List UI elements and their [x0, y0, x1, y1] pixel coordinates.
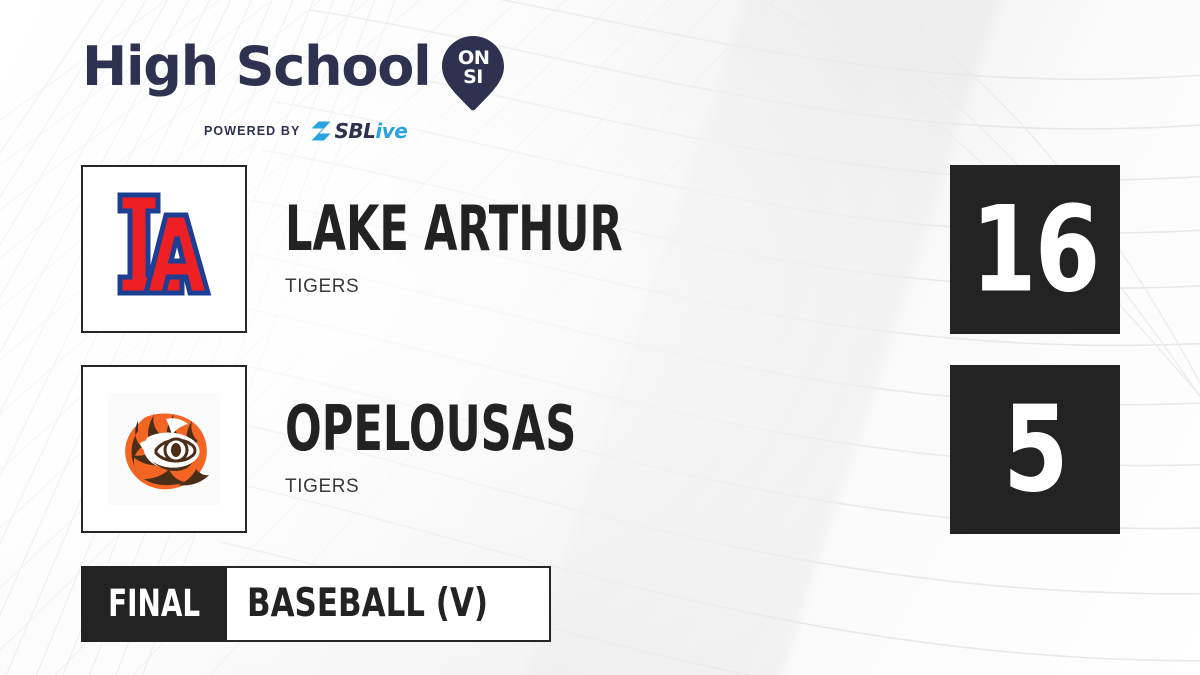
opelousas-tiger-eye-logo — [108, 393, 220, 505]
sblive-suffix: ive — [375, 119, 407, 143]
brand-header: High School ON SI POWERED BY SBLive — [82, 38, 642, 138]
sport-label-box: BASEBALL (V) — [227, 566, 551, 642]
team-row: OPELOUSAS TIGERS 5 — [0, 365, 1200, 535]
brand-wordmark: High School — [82, 38, 430, 96]
team-mascot: TIGERS — [285, 276, 707, 298]
team-row: LAKE ARTHUR TIGERS 16 — [0, 165, 1200, 335]
team-score: 16 — [971, 190, 1099, 309]
game-status-bar: FINAL BASEBALL (V) — [81, 566, 551, 642]
team-text-block: LAKE ARTHUR TIGERS — [285, 165, 707, 333]
team-name: OPELOUSAS — [285, 396, 576, 461]
brand-row: High School ON SI — [82, 38, 642, 112]
status-badge: FINAL — [81, 566, 227, 642]
status-badge-label: FINAL — [108, 584, 200, 624]
sblive-logo: SBLive — [309, 119, 407, 143]
team-text-block: OPELOUSAS TIGERS — [285, 365, 649, 533]
lake-arthur-la-monogram-logo — [112, 189, 217, 309]
team-score-box: 16 — [950, 165, 1120, 334]
sport-label: BASEBALL (V) — [247, 583, 488, 624]
team-score: 5 — [1003, 390, 1067, 509]
team-logo-box — [81, 165, 247, 333]
team-score-box: 5 — [950, 365, 1120, 534]
powered-by-label: POWERED BY — [204, 124, 300, 138]
powered-by-row: POWERED BY SBLive — [204, 119, 642, 143]
team-name: LAKE ARTHUR — [285, 196, 623, 261]
team-mascot: TIGERS — [285, 476, 649, 498]
team-logo-box — [81, 365, 247, 533]
sblive-wordmark: SBLive — [334, 119, 407, 143]
sblive-chevron-icon — [309, 120, 333, 142]
scoreboard-graphic: High School ON SI POWERED BY SBLive — [0, 0, 1200, 675]
on-si-pin-icon: ON SI — [440, 34, 506, 112]
svg-text:SI: SI — [464, 66, 484, 88]
sblive-prefix: SBL — [334, 119, 375, 143]
